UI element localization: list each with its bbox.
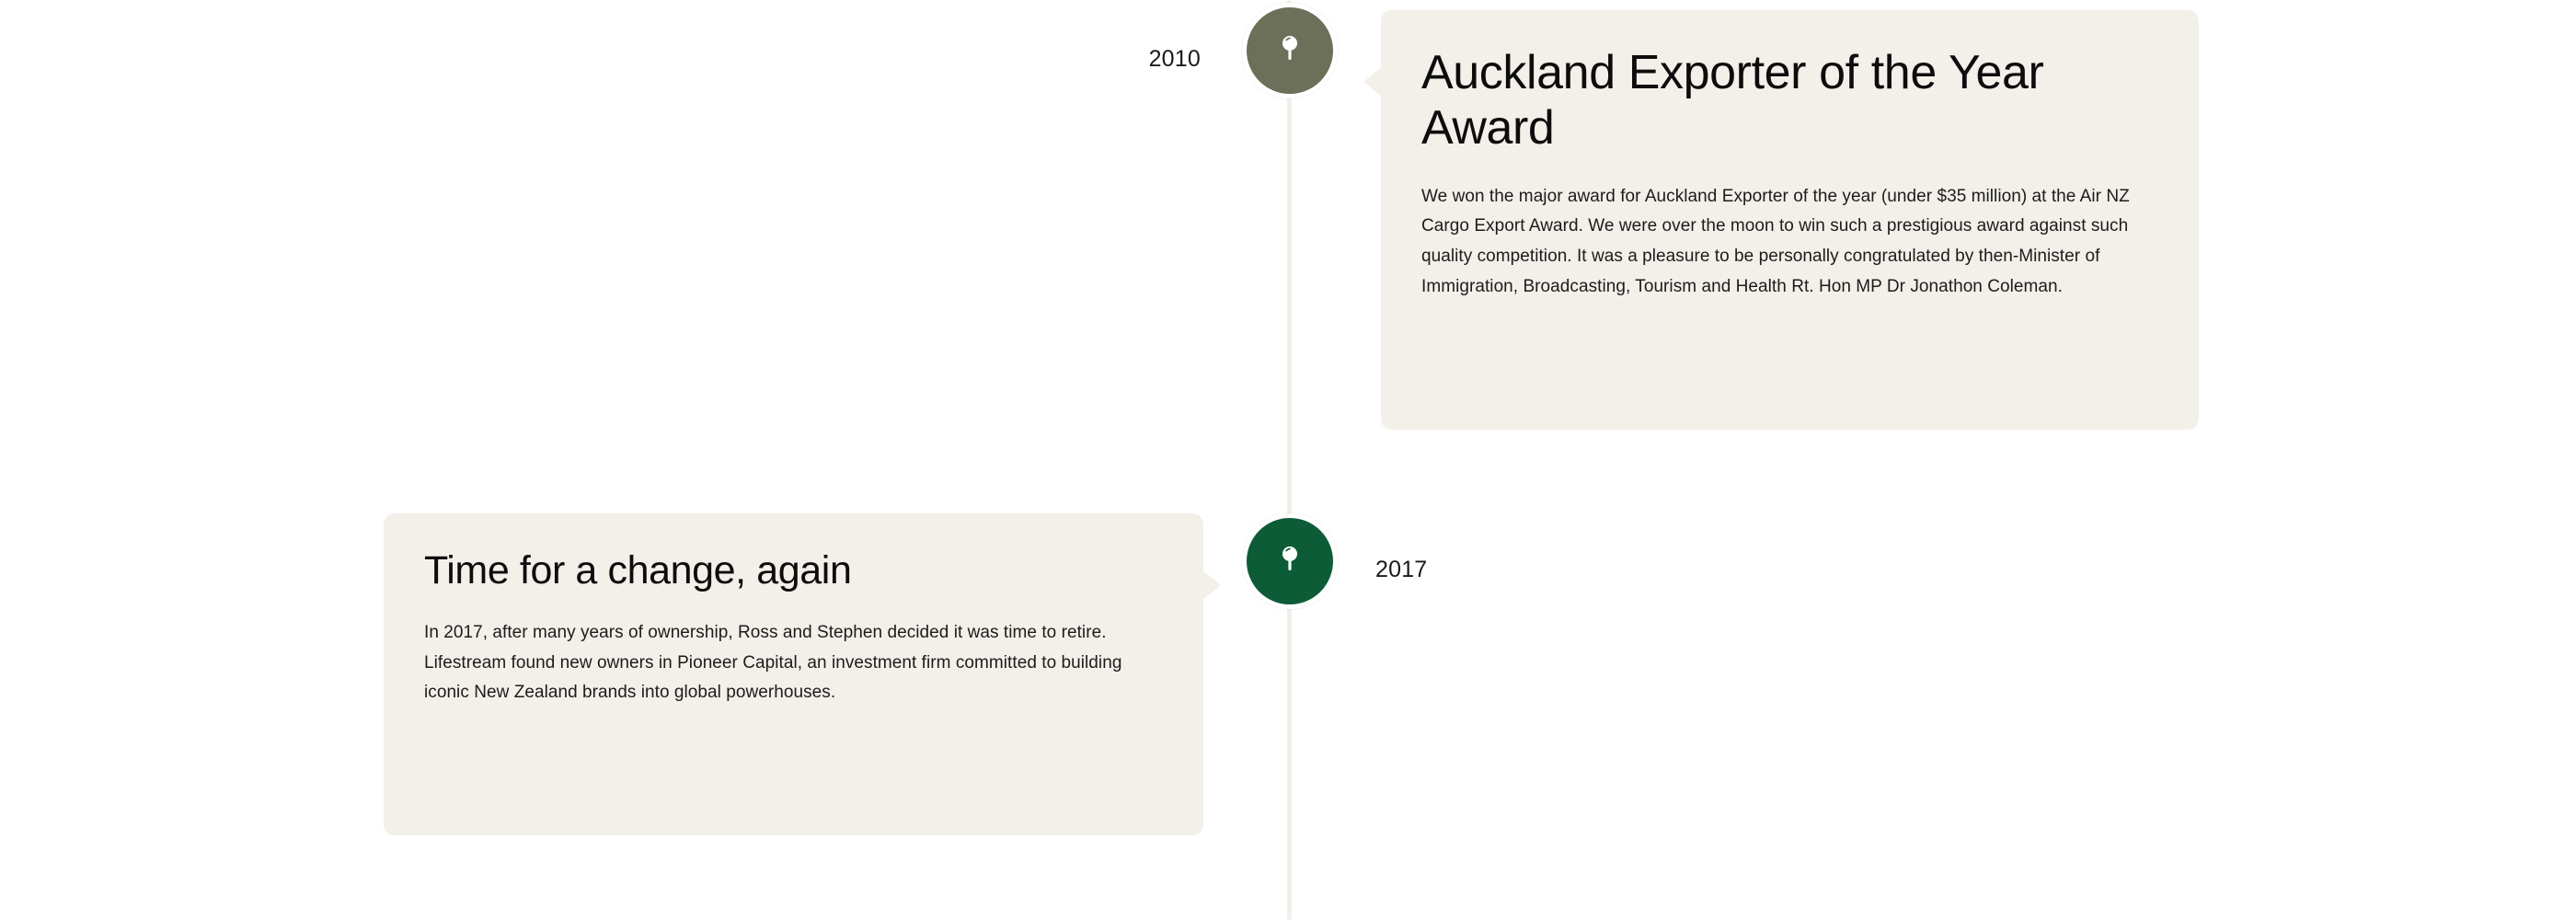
timeline-entry-2017: 2017 Time for a change, again In 2017, a… <box>0 511 2576 842</box>
timeline-card-2017: Time for a change, again In 2017, after … <box>384 513 1203 835</box>
map-pin-icon <box>1281 546 1299 578</box>
timeline-card-body: We won the major award for Auckland Expo… <box>1421 182 2158 303</box>
timeline-entry-2010: 2010 Auckland Exporter of the Year Award… <box>0 0 2576 432</box>
timeline-node-2017[interactable] <box>1242 513 1338 609</box>
timeline-card-title: Time for a change, again <box>424 548 1163 594</box>
timeline-card-2010: Auckland Exporter of the Year Award We w… <box>1381 10 2199 430</box>
timeline-card-body: In 2017, after many years of ownership, … <box>424 618 1160 708</box>
timeline-card-title: Auckland Exporter of the Year Award <box>1421 45 2065 156</box>
timeline: 2010 Auckland Exporter of the Year Award… <box>0 0 2576 920</box>
timeline-year-label-2010: 2010 <box>1149 48 1201 71</box>
timeline-year-label-2017: 2017 <box>1375 558 1427 581</box>
timeline-node-2010[interactable] <box>1242 3 1338 98</box>
map-pin-icon <box>1281 35 1299 67</box>
